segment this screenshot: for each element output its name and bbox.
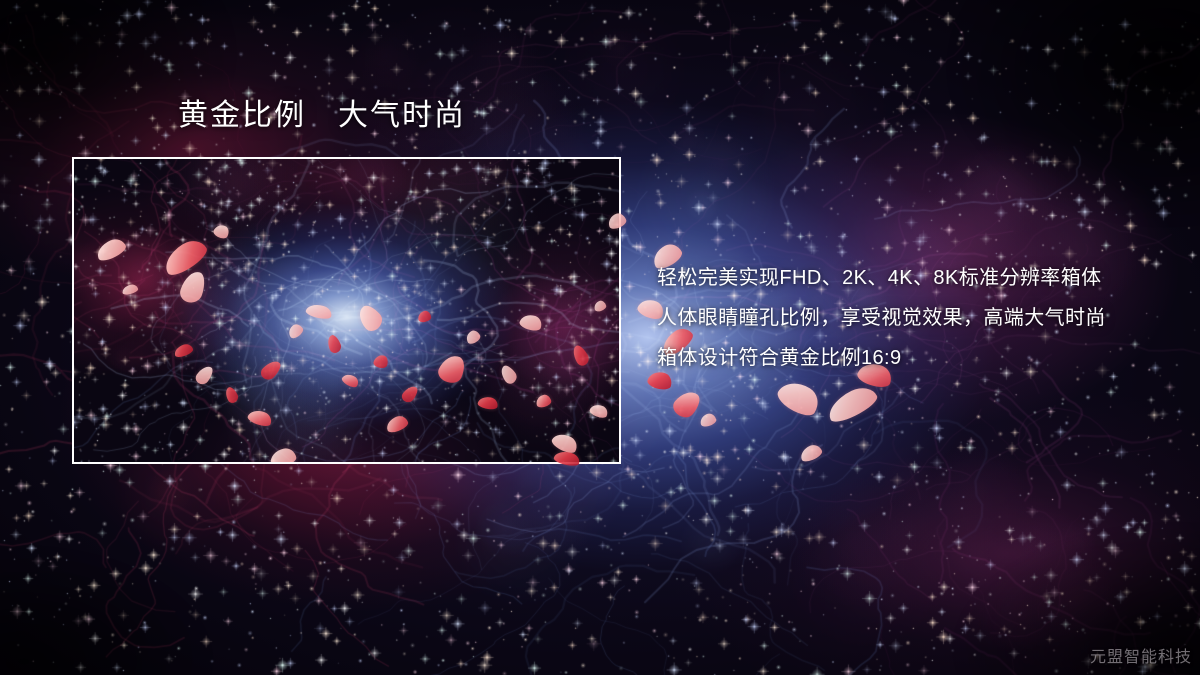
rose-petal [94, 236, 128, 264]
rose-petal [570, 343, 592, 368]
watermark: 元盟智能科技 [1090, 643, 1192, 667]
rose-petal [498, 363, 520, 386]
body-text-block: 轻松完美实现FHD、2K、4K、8K标准分辨率箱体 人体眼睛瞳孔比例，享受视觉效… [657, 258, 1167, 378]
rose-petal [212, 222, 231, 240]
rose-petal [464, 329, 482, 346]
rose-petal [193, 363, 215, 387]
rose-petal [372, 353, 389, 369]
rose-petal [340, 371, 360, 389]
rose-petal [286, 322, 305, 340]
rose-petal [246, 407, 273, 428]
preview-petal-group [74, 159, 619, 462]
body-line-2: 人体眼睛瞳孔比例，享受视觉效果，高端大气时尚 [657, 298, 1167, 338]
rose-petal [354, 302, 386, 335]
rose-petal [823, 382, 880, 426]
rose-petal [550, 430, 580, 456]
rose-petal [400, 383, 421, 405]
rose-petal [535, 393, 552, 408]
rose-petal [173, 342, 194, 358]
rose-petal [159, 235, 211, 280]
rose-petal [774, 375, 824, 421]
rose-petal [670, 386, 705, 422]
rose-petal [593, 299, 608, 312]
rose-petal [121, 283, 139, 296]
rose-petal [417, 310, 432, 323]
rose-petal [588, 402, 609, 420]
preview-image [74, 159, 619, 462]
slide-title: 黄金比例 大气时尚 [178, 98, 466, 134]
rose-petal [384, 414, 409, 435]
rose-petal [258, 357, 283, 383]
rose-petal [305, 302, 333, 321]
preview-image-frame [72, 157, 621, 464]
rose-petal [518, 312, 544, 333]
rose-petal [699, 412, 718, 428]
rose-petal [178, 268, 209, 305]
rose-petal [325, 333, 343, 354]
rose-petal [435, 351, 468, 386]
presentation-slide: 黄金比例 大气时尚 轻松完美实现FHD、2K、4K、8K标准分辨率箱体 人体眼睛… [0, 0, 1200, 675]
rose-petal [798, 442, 824, 463]
body-line-3: 箱体设计符合黄金比例16:9 [657, 338, 1167, 378]
rose-petal [477, 395, 499, 411]
body-line-1: 轻松完美实现FHD、2K、4K、8K标准分辨率箱体 [657, 258, 1167, 298]
rose-petal [269, 446, 298, 462]
rose-petal [223, 385, 240, 404]
